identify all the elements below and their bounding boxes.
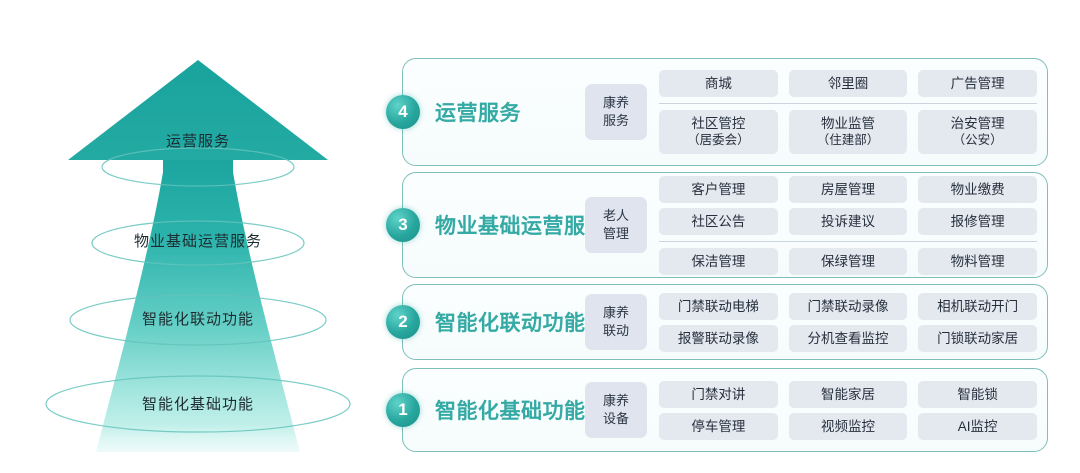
feature-row: 社区管控（居委会）物业监管（住建部）治安管理（公安）	[659, 103, 1037, 154]
feature-cell[interactable]: 视频监控	[789, 413, 908, 440]
feature-cell-label: 相机联动开门	[937, 299, 1018, 314]
feature-cell[interactable]: 治安管理（公安）	[918, 110, 1037, 154]
layer-subblock[interactable]: 康养设备	[585, 382, 647, 438]
feature-cell-label: 分机查看监控	[808, 331, 889, 346]
layer-subblock-line: 服务	[603, 112, 629, 130]
layer-subblock-line: 康养	[603, 392, 629, 410]
layer-subblock[interactable]: 老人管理	[585, 197, 647, 253]
layer-number-badge: 1	[386, 393, 420, 427]
layer-subblock[interactable]: 康养联动	[585, 294, 647, 350]
layer-subblock-line: 老人	[603, 207, 629, 225]
layer-feature-grid: 商城邻里圈广告管理社区管控（居委会）物业监管（住建部）治安管理（公安）	[659, 63, 1047, 161]
feature-cell-label: 门禁联动电梯	[678, 299, 759, 314]
layer-subblock-line: 联动	[603, 322, 629, 340]
layer-title: 智能化联动功能	[435, 307, 586, 337]
feature-cell[interactable]: 广告管理	[918, 70, 1037, 97]
feature-cell[interactable]: 门禁联动电梯	[659, 293, 778, 320]
feature-cell-label: 智能锁	[957, 387, 998, 402]
feature-cell[interactable]: 报警联动录像	[659, 325, 778, 352]
feature-row: 门禁对讲智能家居智能锁	[659, 381, 1037, 408]
feature-cell-label: 房屋管理	[821, 182, 875, 197]
feature-cell[interactable]: 邻里圈	[789, 70, 908, 97]
arrow-tier-label-1: 智能化基础功能	[142, 393, 254, 414]
layer-title: 物业基础运营服务	[435, 210, 607, 240]
feature-cell-label: 商城	[705, 76, 732, 91]
feature-cell[interactable]: 保绿管理	[789, 248, 908, 275]
feature-row: 商城邻里圈广告管理	[659, 70, 1037, 97]
layer-card-list: 4运营服务康养服务商城邻里圈广告管理社区管控（居委会）物业监管（住建部）治安管理…	[396, 0, 1056, 473]
feature-cell-sublabel: （居委会）	[661, 132, 776, 149]
feature-row: 门禁联动电梯门禁联动录像相机联动开门	[659, 293, 1037, 320]
feature-cell-label: 治安管理	[951, 116, 1005, 131]
feature-cell-label: AI监控	[958, 419, 998, 434]
feature-cell[interactable]: 客户管理	[659, 176, 778, 203]
layer-title: 运营服务	[435, 97, 521, 127]
feature-cell-label: 门禁联动录像	[808, 299, 889, 314]
feature-cell-label: 报警联动录像	[678, 331, 759, 346]
layer-feature-grid: 门禁对讲智能家居智能锁停车管理视频监控AI监控	[659, 374, 1047, 447]
feature-cell[interactable]: 停车管理	[659, 413, 778, 440]
feature-cell-sublabel: （住建部）	[791, 132, 906, 149]
layer-card-4[interactable]: 4运营服务康养服务商城邻里圈广告管理社区管控（居委会）物业监管（住建部）治安管理…	[402, 58, 1048, 166]
feature-cell-label: 保绿管理	[821, 254, 875, 269]
layer-subblock-line: 康养	[603, 304, 629, 322]
arrow-tier-label-3: 物业基础运营服务	[134, 230, 262, 251]
feature-cell-label: 视频监控	[821, 419, 875, 434]
feature-cell-label: 广告管理	[951, 76, 1005, 91]
layer-title-slot: 智能化联动功能	[403, 307, 585, 337]
feature-cell-label: 社区公告	[691, 214, 745, 229]
layer-feature-grid: 客户管理房屋管理物业缴费社区公告投诉建议报修管理保洁管理保绿管理物料管理	[659, 169, 1047, 282]
feature-cell-label: 报修管理	[951, 214, 1005, 229]
layer-number-badge: 3	[386, 208, 420, 242]
layer-feature-grid: 门禁联动电梯门禁联动录像相机联动开门报警联动录像分机查看监控门锁联动家居	[659, 286, 1047, 359]
feature-cell[interactable]: 社区公告	[659, 208, 778, 235]
feature-cell-label: 门禁对讲	[691, 387, 745, 402]
feature-row: 报警联动录像分机查看监控门锁联动家居	[659, 325, 1037, 352]
feature-cell-label: 门锁联动家居	[937, 331, 1018, 346]
feature-cell-label: 社区管控	[691, 116, 745, 131]
feature-cell[interactable]: 物业缴费	[918, 176, 1037, 203]
feature-cell[interactable]: 门锁联动家居	[918, 325, 1037, 352]
layer-number-badge: 2	[386, 305, 420, 339]
feature-cell[interactable]: 保洁管理	[659, 248, 778, 275]
feature-row: 社区公告投诉建议报修管理	[659, 208, 1037, 235]
layer-card-1[interactable]: 1智能化基础功能康养设备门禁对讲智能家居智能锁停车管理视频监控AI监控	[402, 368, 1048, 452]
feature-cell-label: 物业监管	[821, 116, 875, 131]
layer-subblock-line: 设备	[603, 410, 629, 428]
feature-cell-label: 停车管理	[691, 419, 745, 434]
feature-cell-sublabel: （公安）	[920, 132, 1035, 149]
feature-cell[interactable]: 商城	[659, 70, 778, 97]
arrow-tier-label-2: 智能化联动功能	[142, 308, 254, 329]
layer-title-slot: 运营服务	[403, 97, 585, 127]
feature-cell[interactable]: AI监控	[918, 413, 1037, 440]
feature-cell-label: 客户管理	[691, 182, 745, 197]
feature-cell[interactable]: 分机查看监控	[789, 325, 908, 352]
layer-subblock-line: 管理	[603, 225, 629, 243]
layer-title-slot: 物业基础运营服务	[403, 210, 585, 240]
feature-cell[interactable]: 报修管理	[918, 208, 1037, 235]
arrow-pyramid-graphic: 运营服务 物业基础运营服务 智能化联动功能 智能化基础功能	[0, 0, 390, 473]
layer-card-2[interactable]: 2智能化联动功能康养联动门禁联动电梯门禁联动录像相机联动开门报警联动录像分机查看…	[402, 284, 1048, 360]
feature-cell-label: 投诉建议	[821, 214, 875, 229]
arrow-bottom-fade	[60, 424, 340, 473]
feature-cell[interactable]: 投诉建议	[789, 208, 908, 235]
feature-cell[interactable]: 物业监管（住建部）	[789, 110, 908, 154]
layer-title-slot: 智能化基础功能	[403, 395, 585, 425]
layer-title: 智能化基础功能	[435, 395, 586, 425]
feature-cell[interactable]: 物料管理	[918, 248, 1037, 275]
layer-card-3[interactable]: 3物业基础运营服务老人管理客户管理房屋管理物业缴费社区公告投诉建议报修管理保洁管…	[402, 172, 1048, 278]
feature-cell[interactable]: 相机联动开门	[918, 293, 1037, 320]
feature-cell-label: 邻里圈	[828, 76, 869, 91]
feature-cell-label: 物料管理	[951, 254, 1005, 269]
feature-cell[interactable]: 社区管控（居委会）	[659, 110, 778, 154]
feature-cell[interactable]: 门禁对讲	[659, 381, 778, 408]
feature-cell-label: 智能家居	[821, 387, 875, 402]
feature-cell-label: 物业缴费	[951, 182, 1005, 197]
layer-subblock[interactable]: 康养服务	[585, 84, 647, 140]
feature-cell[interactable]: 门禁联动录像	[789, 293, 908, 320]
feature-cell[interactable]: 房屋管理	[789, 176, 908, 203]
diagram-root: 运营服务 物业基础运营服务 智能化联动功能 智能化基础功能 4运营服务康养服务商…	[0, 0, 1080, 473]
feature-cell-label: 保洁管理	[691, 254, 745, 269]
feature-cell[interactable]: 智能家居	[789, 381, 908, 408]
feature-row: 保洁管理保绿管理物料管理	[659, 241, 1037, 275]
feature-row: 客户管理房屋管理物业缴费	[659, 176, 1037, 203]
layer-number-badge: 4	[386, 95, 420, 129]
layer-subblock-line: 康养	[603, 94, 629, 112]
feature-cell[interactable]: 智能锁	[918, 381, 1037, 408]
feature-row: 停车管理视频监控AI监控	[659, 413, 1037, 440]
arrow-tier-label-4: 运营服务	[166, 130, 230, 151]
